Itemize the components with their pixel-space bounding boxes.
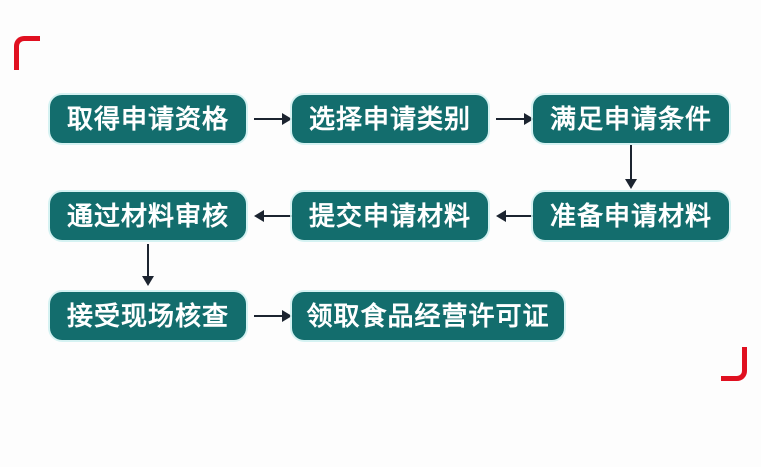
flow-node-label: 领取食品经营许可证 [304, 303, 551, 329]
connector-arrow-left-n4-n5 [496, 208, 534, 224]
flowchart-canvas: 取得申请资格 选择申请类别 满足申请条件 通过材料审核 提交申请材料 准备申请材… [0, 0, 761, 467]
flow-node-meet-conditions[interactable]: 满足申请条件 [533, 95, 729, 143]
corner-bracket-top-left-icon [14, 36, 40, 70]
flow-node-label: 满足申请条件 [548, 106, 714, 132]
connector-arrow-right-n1-n2 [254, 111, 292, 127]
flow-node-label: 选择申请类别 [307, 106, 473, 132]
corner-bracket-bottom-right-icon [721, 347, 747, 381]
connector-arrow-right-n7-n8 [254, 308, 292, 324]
flow-node-prepare-materials[interactable]: 准备申请材料 [533, 192, 729, 240]
connector-arrow-down-n3-n4 [623, 145, 639, 189]
connector-arrow-left-n5-n6 [254, 208, 292, 224]
connector-arrow-down-n6-n7 [140, 244, 156, 286]
flow-node-label: 提交申请材料 [307, 203, 473, 229]
flow-node-onsite-inspection[interactable]: 接受现场核查 [50, 292, 246, 340]
flow-node-pass-document-review[interactable]: 通过材料审核 [50, 192, 246, 240]
flow-node-choose-category[interactable]: 选择申请类别 [292, 95, 488, 143]
flow-node-submit-materials[interactable]: 提交申请材料 [292, 192, 488, 240]
flow-node-receive-license[interactable]: 领取食品经营许可证 [292, 292, 564, 340]
flow-node-label: 接受现场核查 [65, 303, 231, 329]
flow-node-label: 通过材料审核 [65, 203, 231, 229]
flow-node-label: 准备申请材料 [548, 203, 714, 229]
connector-arrow-right-n2-n3 [496, 111, 534, 127]
flow-node-obtain-qualification[interactable]: 取得申请资格 [50, 95, 246, 143]
flow-node-label: 取得申请资格 [65, 106, 231, 132]
